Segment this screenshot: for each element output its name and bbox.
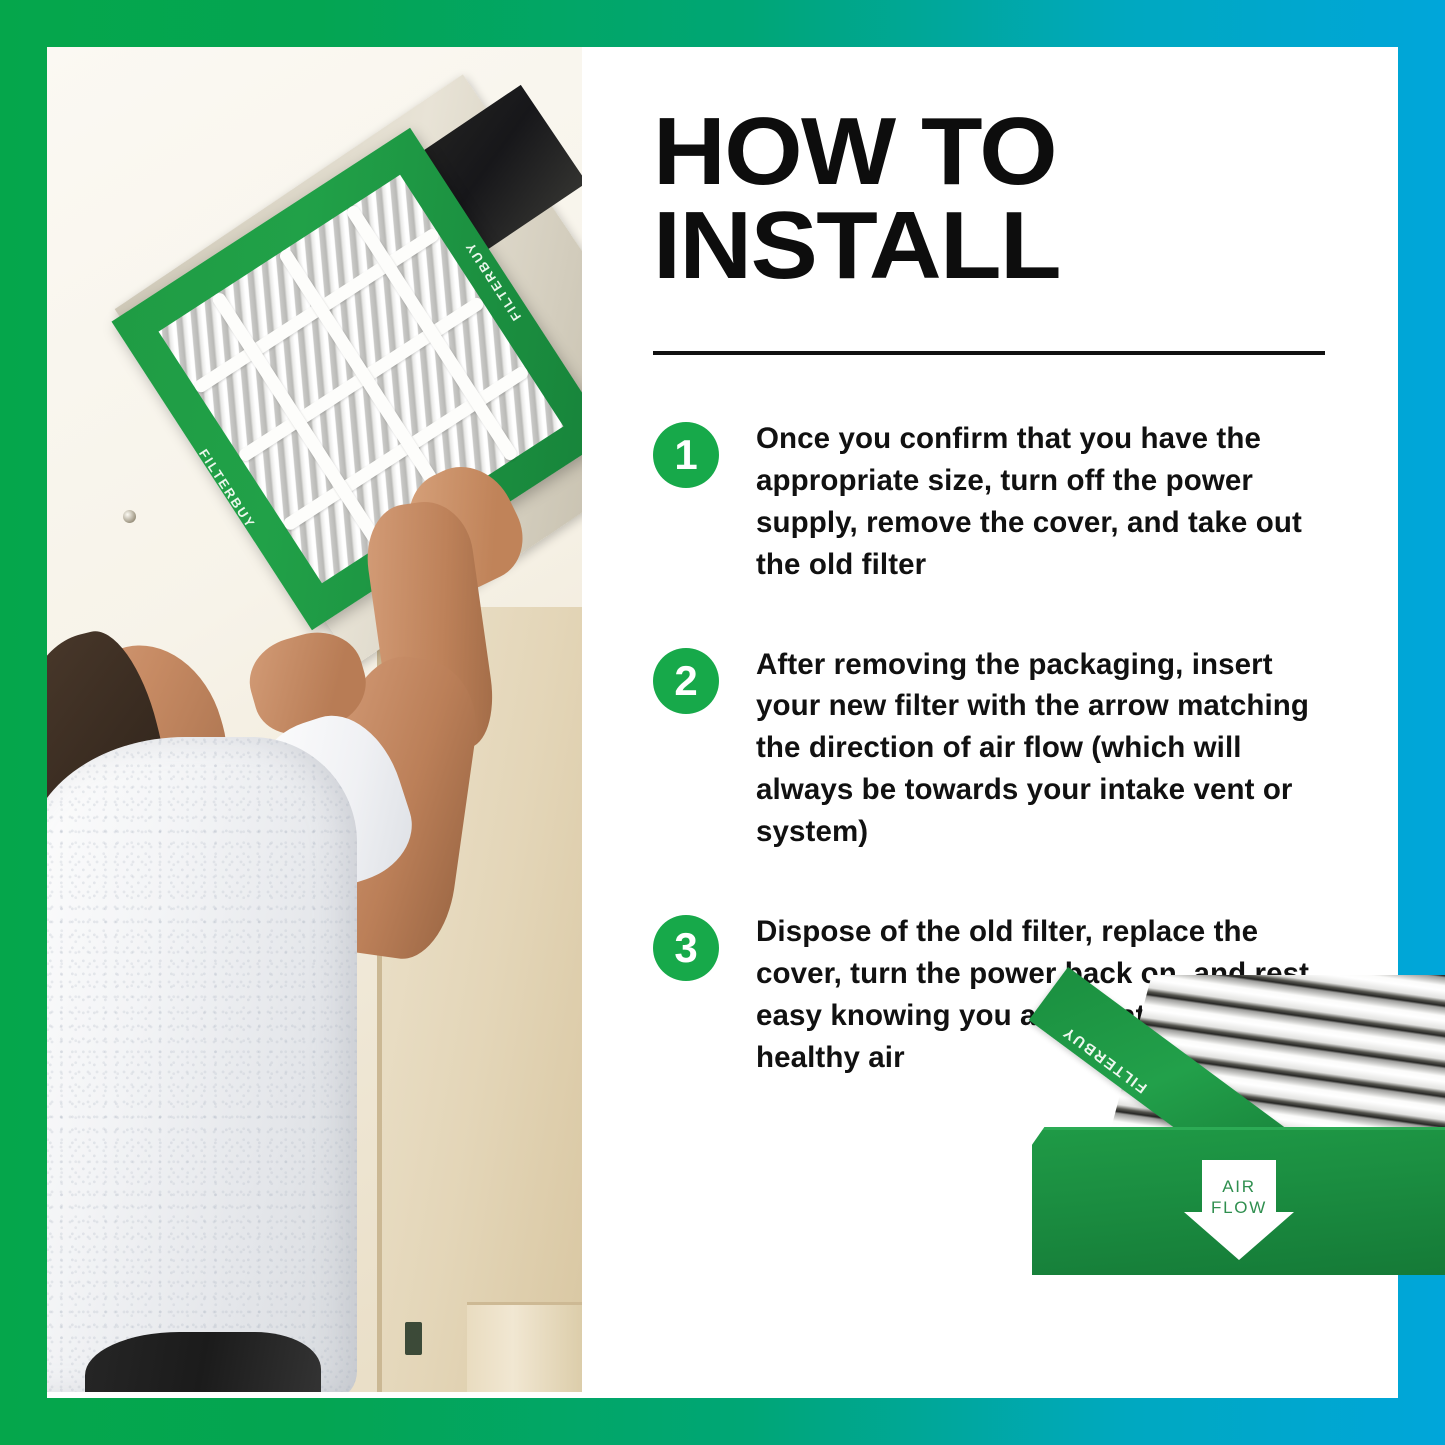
photo-white-tshirt <box>47 737 357 1392</box>
photo-wall-outlet <box>405 1322 422 1355</box>
page-title-line-1: HOW TO <box>653 98 1056 205</box>
air-flow-label-line-1: AIR <box>1222 1177 1255 1196</box>
step-number-badge: 2 <box>653 648 719 714</box>
step-number-badge: 1 <box>653 422 719 488</box>
air-flow-label-line-2: FLOW <box>1211 1198 1267 1217</box>
installation-photo: FILTERBUY FILTERBUY <box>47 47 582 1392</box>
title-divider <box>653 351 1325 355</box>
air-flow-arrow-icon: AIR FLOW <box>1184 1160 1294 1260</box>
step-text: Once you confirm that you have the appro… <box>756 418 1336 586</box>
photo-shirt-texture <box>47 737 357 1392</box>
photo-baseboard <box>467 1302 582 1392</box>
page-title: HOW TO INSTALL <box>653 105 1388 293</box>
vent-screw-icon <box>123 510 136 523</box>
product-filter-image: FILTERBUY AIR FLOW <box>1008 975 1445 1305</box>
poster-gradient-frame: FILTERBUY FILTERBUY HOW TO INSTALL <box>0 0 1445 1445</box>
air-flow-label: AIR FLOW <box>1184 1176 1294 1219</box>
page-title-line-2: INSTALL <box>653 192 1060 299</box>
step-item-1: 1 Once you confirm that you have the app… <box>653 418 1343 586</box>
step-text: After removing the packaging, insert you… <box>756 644 1336 853</box>
photo-dark-pants <box>85 1332 321 1392</box>
product-brand-text: FILTERBUY <box>1059 1023 1150 1097</box>
step-number-badge: 3 <box>653 915 719 981</box>
step-item-2: 2 After removing the packaging, insert y… <box>653 644 1343 853</box>
